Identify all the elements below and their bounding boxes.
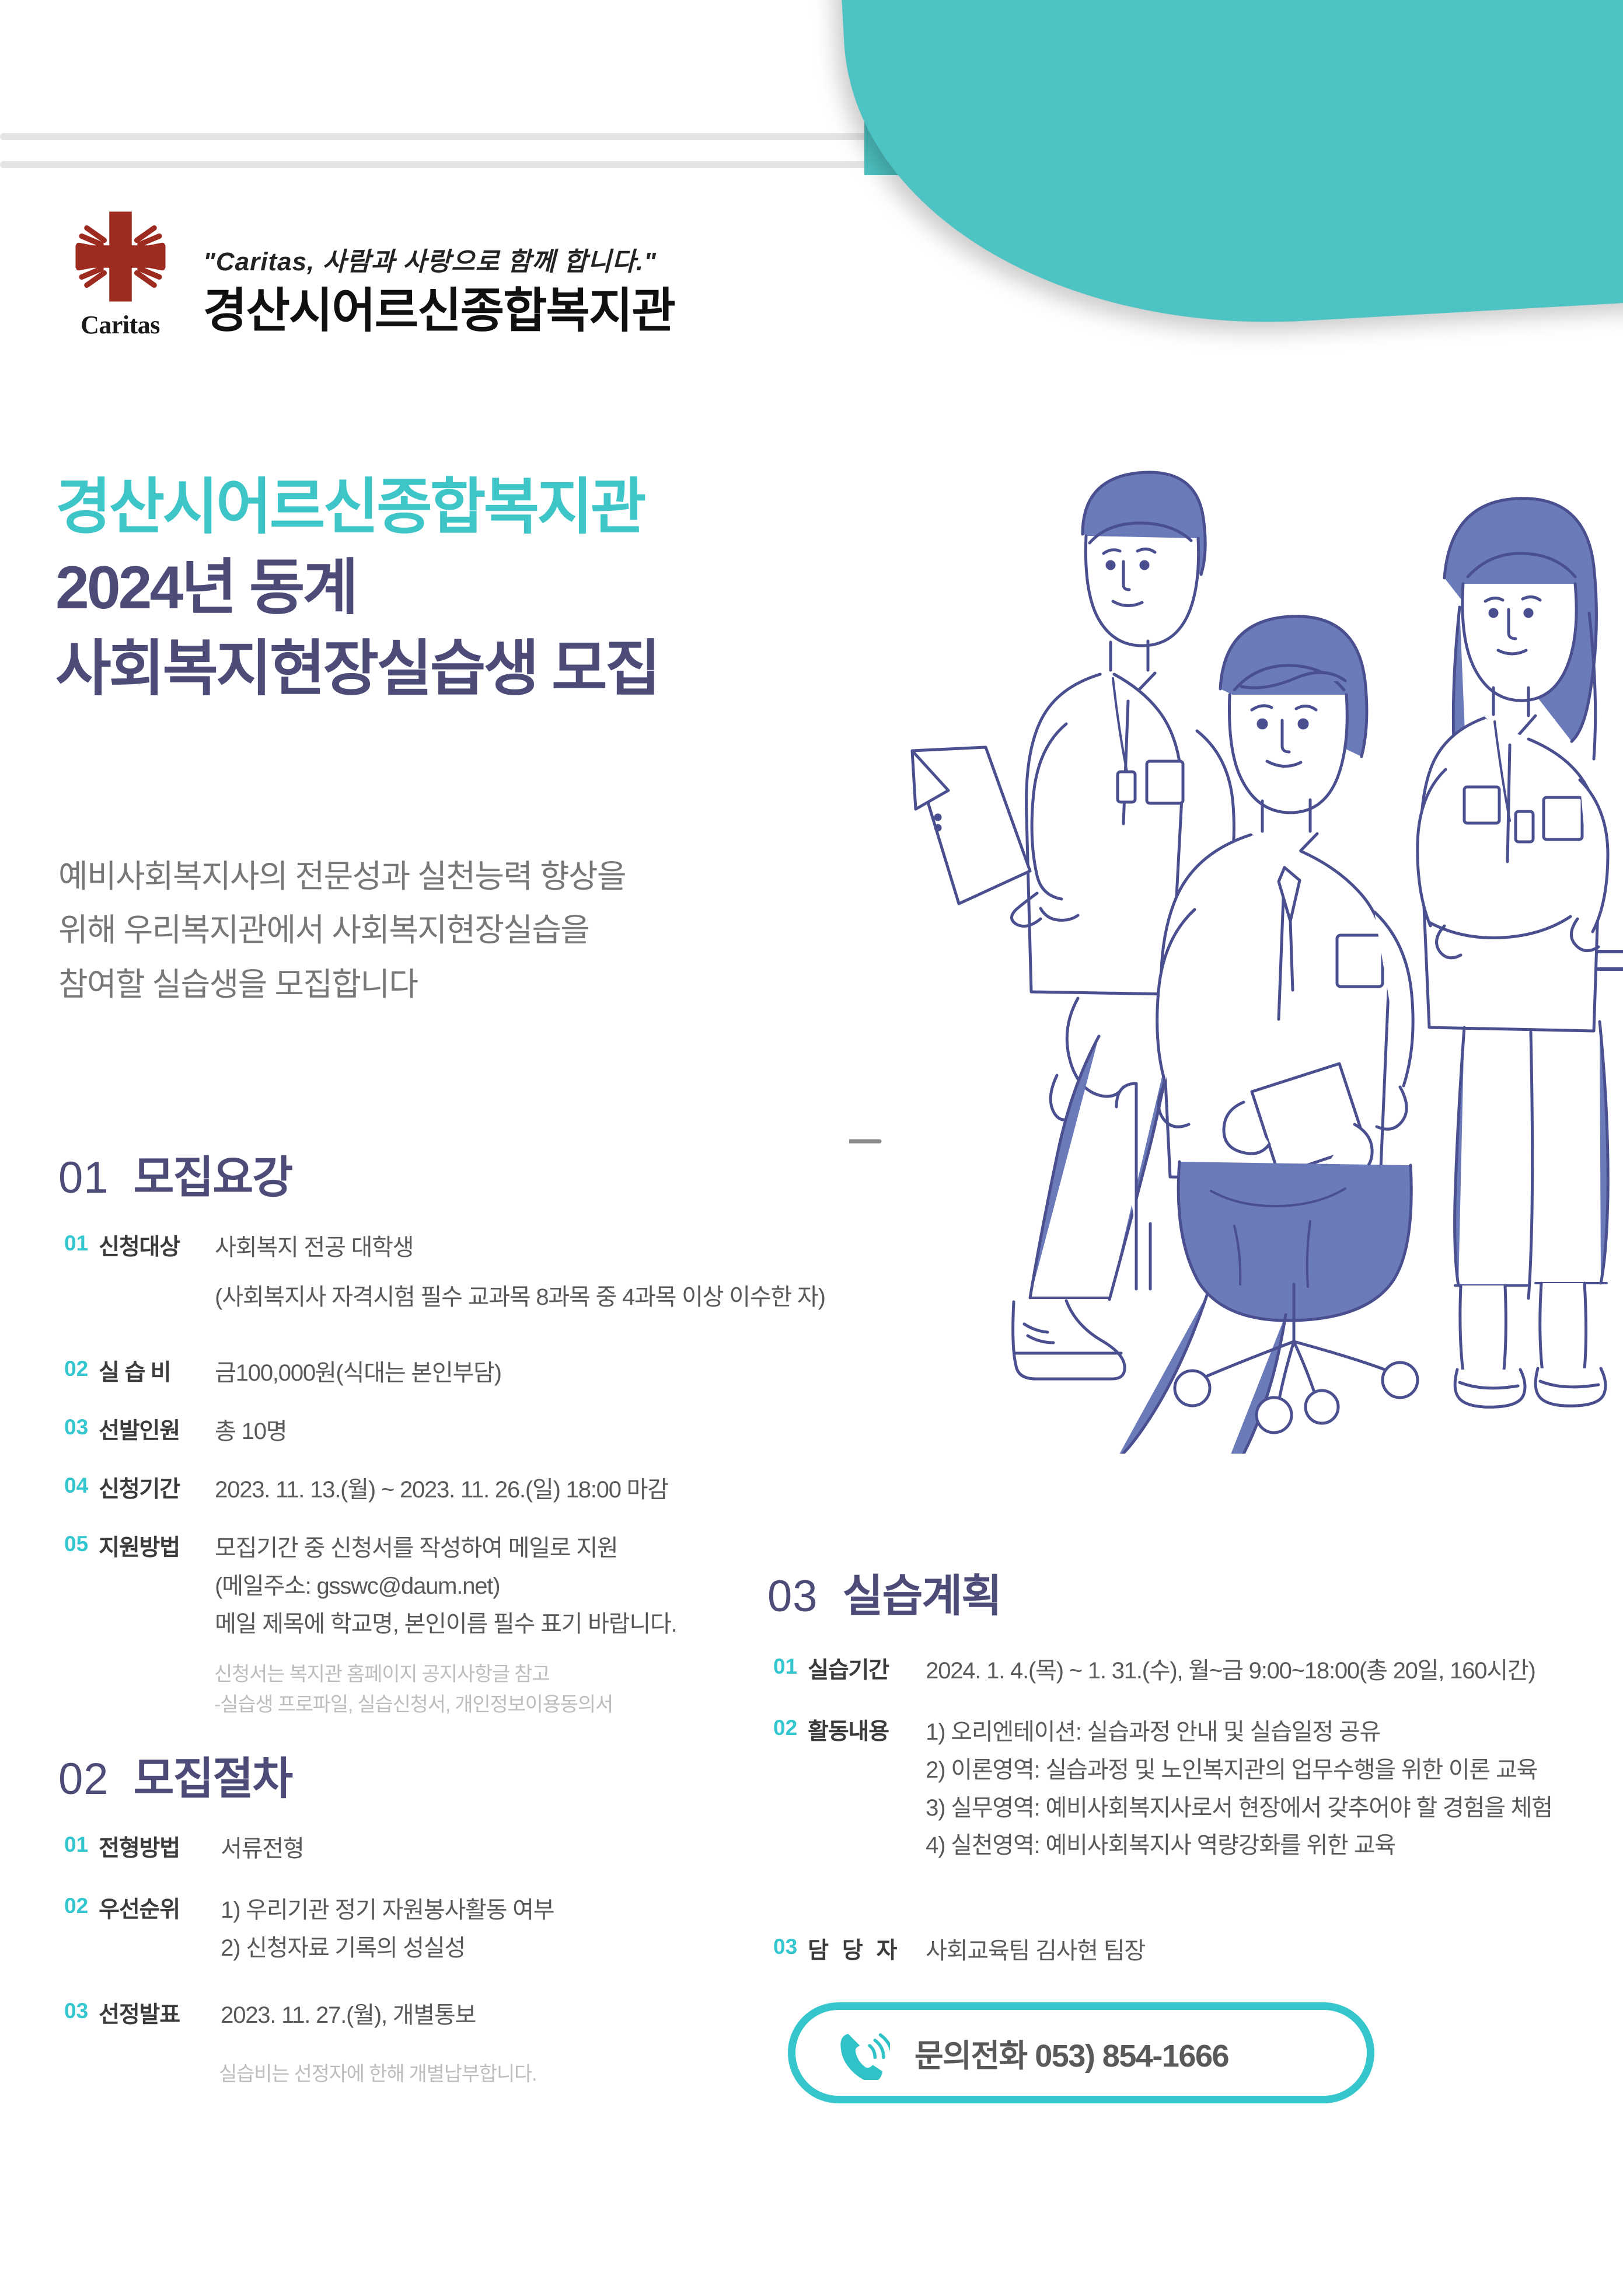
item-value-line-2: (사회복지사 자격시험 필수 교과목 8과목 중 4과목 이상 이수한 자) bbox=[215, 1278, 825, 1316]
item-value-line-3: 메일 제목에 학교명, 본인이름 필수 표기 바랍니다. bbox=[215, 1605, 676, 1643]
section-heading-recruitment-overview: 01 모집요강 bbox=[58, 1141, 292, 1206]
section-01-notes: 신청서는 복지관 홈페이지 공지사항글 참고 -실습생 프로파일, 실습신청서,… bbox=[214, 1660, 613, 1720]
item-number: 01 bbox=[773, 1652, 797, 1679]
item-row-priority: 02 우선순위 1) 우리기관 정기 자원봉사활동 여부 2) 신청자료 기록의… bbox=[64, 1891, 554, 1967]
item-value: 서류전형 bbox=[221, 1830, 303, 1868]
item-value: 모집기간 중 신청서를 작성하여 메일로 지원 (메일주소: gsswc@dau… bbox=[215, 1529, 676, 1643]
poster-root: Caritas "Caritas, 사람과 사랑으로 함께 합니다." 경산시어… bbox=[0, 0, 1623, 2296]
item-number: 03 bbox=[773, 1932, 797, 1959]
activity-line-1: 1) 오리엔테이션: 실습과정 안내 및 실습일정 공유 bbox=[926, 1713, 1552, 1751]
item-row-screening-method: 01 전형방법 서류전형 bbox=[64, 1830, 304, 1868]
item-label: 선발인원 bbox=[99, 1413, 201, 1445]
item-label: 전형방법 bbox=[99, 1830, 207, 1863]
item-number: 04 bbox=[64, 1471, 88, 1498]
note-line-1: 실습비는 선정자에 한해 개별납부합니다. bbox=[219, 2060, 536, 2090]
section-number: 01 bbox=[58, 1152, 109, 1203]
contact-phone-banner[interactable]: 문의전화 053) 854-1666 bbox=[788, 2002, 1374, 2103]
title-line-program: 사회복지현장실습생 모집 bbox=[55, 629, 658, 709]
item-number: 03 bbox=[64, 1997, 88, 2023]
item-row-activities: 02 활동내용 1) 오리엔테이션: 실습과정 안내 및 실습일정 공유 2) … bbox=[773, 1713, 1552, 1865]
item-number: 03 bbox=[64, 1413, 88, 1440]
title-line-org: 경산시어르신종합복지관 bbox=[55, 467, 658, 548]
item-number: 02 bbox=[64, 1354, 88, 1381]
header-text: "Caritas, 사람과 사랑으로 함께 합니다." 경산시어르신종합복지관 bbox=[203, 241, 675, 340]
caritas-wordmark: Caritas bbox=[81, 310, 160, 340]
caritas-cross-icon bbox=[69, 205, 172, 308]
title-line-year: 2024년 동계 bbox=[55, 548, 658, 628]
section-title: 모집요강 bbox=[134, 1141, 292, 1206]
section-number: 02 bbox=[58, 1754, 109, 1804]
item-value-line-1: 모집기간 중 신청서를 작성하여 메일로 지원 bbox=[215, 1529, 676, 1567]
item-row-contact-person: 03 담 당 자 사회교육팀 김사현 팀장 bbox=[773, 1932, 1145, 1970]
item-value: 2024. 1. 4.(목) ~ 1. 31.(수), 월~금 9:00~18:… bbox=[926, 1652, 1535, 1690]
item-row-application-period: 04 신청기간 2023. 11. 13.(월) ~ 2023. 11. 26.… bbox=[64, 1471, 668, 1509]
item-label: 우선순위 bbox=[99, 1891, 207, 1924]
section-heading-recruitment-process: 02 모집절차 bbox=[58, 1743, 292, 1807]
item-value: 2023. 11. 13.(월) ~ 2023. 11. 26.(일) 18:0… bbox=[215, 1471, 668, 1509]
note-line-1: 신청서는 복지관 홈페이지 공지사항글 참고 bbox=[214, 1660, 613, 1690]
item-value: 금100,000원(식대는 본인부담) bbox=[215, 1354, 501, 1392]
activity-line-2: 2) 이론영역: 실습과정 및 노인복지관의 업무수행을 위한 이론 교육 bbox=[926, 1751, 1552, 1789]
item-row-application-target: 01 신청대상 사회복지 전공 대학생 (사회복지사 자격시험 필수 교과목 8… bbox=[64, 1229, 825, 1316]
intro-paragraph: 예비사회복지사의 전문성과 실천능력 향상을 위해 우리복지관에서 사회복지현장… bbox=[58, 849, 626, 1011]
note-line-2: -실습생 프로파일, 실습신청서, 개인정보이용동의서 bbox=[214, 1690, 613, 1720]
item-row-practicum-period: 01 실습기간 2024. 1. 4.(목) ~ 1. 31.(수), 월~금 … bbox=[773, 1652, 1535, 1690]
section-title: 모집절차 bbox=[134, 1743, 292, 1807]
phone-ringing-icon bbox=[836, 2026, 890, 2080]
activity-line-4: 4) 실천영역: 예비사회복지사 역량강화를 위한 교육 bbox=[926, 1827, 1552, 1865]
item-number: 05 bbox=[64, 1529, 88, 1556]
section-title: 실습계획 bbox=[843, 1560, 1001, 1624]
intro-line-1: 예비사회복지사의 전문성과 실천능력 향상을 bbox=[58, 849, 626, 903]
main-title: 경산시어르신종합복지관 2024년 동계 사회복지현장실습생 모집 bbox=[55, 467, 658, 709]
header: Caritas "Caritas, 사람과 사랑으로 함께 합니다." 경산시어… bbox=[58, 205, 675, 340]
item-value: 총 10명 bbox=[215, 1413, 287, 1451]
item-label: 선정발표 bbox=[99, 1997, 207, 2029]
item-label: 신청기간 bbox=[99, 1471, 201, 1504]
item-value-gap bbox=[215, 1267, 825, 1278]
item-number: 02 bbox=[64, 1891, 88, 1918]
section-02-notes: 실습비는 선정자에 한해 개별납부합니다. bbox=[219, 2060, 536, 2090]
header-organization-name: 경산시어르신종합복지관 bbox=[203, 286, 675, 336]
section-heading-practicum-plan: 03 실습계획 bbox=[767, 1560, 1001, 1624]
teal-corner-ribbon bbox=[823, 0, 1623, 346]
item-value-line-1: 사회복지 전공 대학생 bbox=[215, 1229, 825, 1267]
three-people-line-art-icon bbox=[849, 409, 1623, 1454]
section-number: 03 bbox=[767, 1571, 818, 1622]
item-row-number-selected: 03 선발인원 총 10명 bbox=[64, 1413, 287, 1451]
item-value: 1) 오리엔테이션: 실습과정 안내 및 실습일정 공유 2) 이론영역: 실습… bbox=[926, 1713, 1552, 1865]
item-value: 2023. 11. 27.(월), 개별통보 bbox=[221, 1997, 476, 2034]
item-label: 담 당 자 bbox=[808, 1932, 912, 1965]
item-row-practicum-fee: 02 실 습 비 금100,000원(식대는 본인부담) bbox=[64, 1354, 501, 1392]
contact-phone-text: 문의전화 053) 854-1666 bbox=[915, 2030, 1228, 2076]
intro-line-2: 위해 우리복지관에서 사회복지현장실습을 bbox=[58, 903, 626, 957]
intro-line-3: 참여할 실습생을 모집합니다 bbox=[58, 957, 626, 1011]
header-slogan: "Caritas, 사람과 사랑으로 함께 합니다." bbox=[203, 241, 675, 278]
item-value: 사회교육팀 김사현 팀장 bbox=[926, 1932, 1145, 1970]
item-label: 지원방법 bbox=[99, 1529, 201, 1562]
item-value-email: (메일주소: gsswc@daum.net) bbox=[215, 1567, 676, 1605]
caritas-logo: Caritas bbox=[58, 205, 182, 340]
item-row-announcement: 03 선정발표 2023. 11. 27.(월), 개별통보 bbox=[64, 1997, 476, 2034]
item-number: 01 bbox=[64, 1830, 88, 1857]
activity-line-3: 3) 실무영역: 예비사회복지사로서 현장에서 갖추어야 할 경험을 체험 bbox=[926, 1789, 1552, 1827]
item-value: 사회복지 전공 대학생 (사회복지사 자격시험 필수 교과목 8과목 중 4과목… bbox=[215, 1229, 825, 1316]
item-value-line-1: 1) 우리기관 정기 자원봉사활동 여부 bbox=[221, 1891, 554, 1929]
item-number: 01 bbox=[64, 1229, 88, 1256]
item-label: 실습기간 bbox=[808, 1652, 912, 1685]
item-value: 1) 우리기관 정기 자원봉사활동 여부 2) 신청자료 기록의 성실성 bbox=[221, 1891, 554, 1967]
item-value-line-2: 2) 신청자료 기록의 성실성 bbox=[221, 1929, 554, 1967]
item-label: 실 습 비 bbox=[99, 1354, 201, 1387]
people-illustration bbox=[849, 409, 1623, 1454]
item-label: 신청대상 bbox=[99, 1229, 201, 1262]
item-label: 활동내용 bbox=[808, 1713, 912, 1746]
item-row-how-to-apply: 05 지원방법 모집기간 중 신청서를 작성하여 메일로 지원 (메일주소: g… bbox=[64, 1529, 676, 1643]
item-number: 02 bbox=[773, 1713, 797, 1740]
